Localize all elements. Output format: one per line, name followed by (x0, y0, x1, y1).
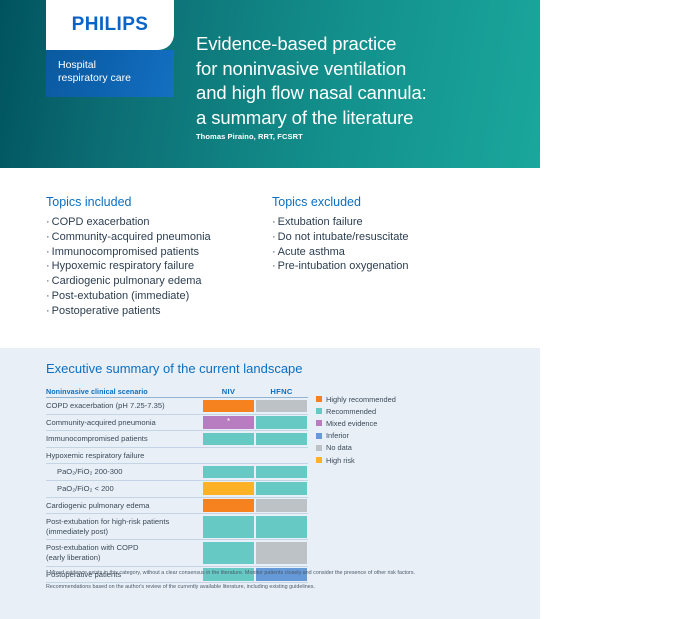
legend: Highly recommendedRecommendedMixed evide… (316, 393, 466, 466)
topic-included-item: Cardiogenic pulmonary edema (46, 274, 256, 289)
row-label-line1: PaO₂/FiO₂ 200-300 (57, 467, 198, 477)
legend-item-inferior: Inferior (316, 430, 466, 442)
legend-swatch-icon (316, 433, 322, 439)
table-row: COPD exacerbation (pH 7.25-7.35) (46, 398, 308, 415)
table-row: Cardiogenic pulmonary edema (46, 498, 308, 515)
row-label-line1: Immunocompromised patients (46, 434, 198, 444)
rating-swatch-recommended (256, 482, 307, 495)
cell-niv (202, 498, 255, 514)
column-header-niv: NIV (202, 387, 255, 397)
legend-label: Inferior (326, 431, 349, 440)
table-row: Post-extubation with COPD(early liberati… (46, 540, 308, 566)
topics-included-heading: Topics included (46, 195, 256, 209)
row-label-line1: Hypoxemic respiratory failure (46, 451, 198, 461)
rating-swatch-recommended (256, 516, 307, 538)
row-label-line1: Post-extubation with COPD (46, 543, 198, 553)
logo-subtitle-line1: Hospital (58, 59, 174, 72)
row-label-line2: (early liberation) (46, 553, 198, 563)
legend-item-no_data: No data (316, 442, 466, 454)
column-header-scenario: Noninvasive clinical scenario (46, 387, 202, 397)
rating-swatch-recommended (203, 466, 254, 479)
rating-swatch-empty (256, 449, 307, 462)
cell-hfnc (255, 448, 308, 464)
rating-swatch-highly_recommended (203, 400, 254, 413)
rating-swatch-empty (203, 449, 254, 462)
row-label: Immunocompromised patients (46, 431, 202, 447)
philips-wordmark: PHILIPS (72, 14, 149, 36)
executive-summary-panel: Executive summary of the current landsca… (0, 348, 540, 619)
table-row: Community-acquired pneumonia* (46, 415, 308, 432)
legend-label: Highly recommended (326, 395, 396, 404)
row-label-line1: Cardiogenic pulmonary edema (46, 501, 198, 511)
row-label: Post-extubation for high-risk patients(i… (46, 514, 202, 539)
cell-hfnc (255, 431, 308, 447)
table-row: PaO₂/FiO₂ 200-300 (46, 464, 308, 481)
topic-included-item: Hypoxemic respiratory failure (46, 259, 256, 274)
title-line-2: for noninvasive ventilation (196, 57, 526, 82)
cell-niv (202, 398, 255, 414)
poster-page: PHILIPS Hospital respiratory care Eviden… (0, 0, 698, 619)
philips-logo-plate: PHILIPS (46, 0, 174, 50)
table-row: Immunocompromised patients (46, 431, 308, 448)
table-body: COPD exacerbation (pH 7.25-7.35)Communit… (46, 398, 308, 583)
recommendation-table: Noninvasive clinical scenario NIV HFNC C… (46, 384, 308, 583)
legend-item-recommended: Recommended (316, 405, 466, 417)
legend-item-mixed_evidence: Mixed evidence (316, 417, 466, 429)
legend-label: High risk (326, 456, 355, 465)
topic-excluded-item: Pre-intubation oxygenation (272, 259, 502, 274)
row-label-line2: (immediately post) (46, 527, 198, 537)
cell-niv (202, 431, 255, 447)
cell-hfnc (255, 514, 308, 539)
title-line-3: and high flow nasal cannula: (196, 81, 526, 106)
row-label: PaO₂/FiO₂ < 200 (46, 481, 202, 497)
topics-excluded-column: Topics excluded Extubation failureDo not… (272, 195, 502, 274)
cell-niv: * (202, 415, 255, 431)
cell-hfnc (255, 481, 308, 497)
cell-niv (202, 514, 255, 539)
footnote-1: * Mixed evidence exists in this category… (46, 570, 516, 577)
table-row: Hypoxemic respiratory failure (46, 448, 308, 465)
row-label-line1: Post-extubation for high-risk patients (46, 517, 198, 527)
footnote-asterisk: * (227, 418, 230, 426)
cell-hfnc (255, 398, 308, 414)
footnotes: * Mixed evidence exists in this category… (46, 570, 516, 598)
topic-excluded-item: Do not intubate/resuscitate (272, 230, 502, 245)
legend-label: Recommended (326, 407, 376, 416)
row-label: Hypoxemic respiratory failure (46, 448, 202, 464)
row-label: Cardiogenic pulmonary edema (46, 498, 202, 514)
topic-excluded-item: Acute asthma (272, 245, 502, 260)
cell-hfnc (255, 415, 308, 431)
legend-label: Mixed evidence (326, 419, 377, 428)
legend-item-high_risk: High risk (316, 454, 466, 466)
row-label: Post-extubation with COPD(early liberati… (46, 540, 202, 565)
topics-excluded-list: Extubation failureDo not intubate/resusc… (272, 215, 502, 274)
cell-niv (202, 464, 255, 480)
author-byline: Thomas Piraino, RRT, FCSRT (196, 132, 303, 141)
cell-hfnc (255, 540, 308, 565)
legend-swatch-icon (316, 457, 322, 463)
cell-hfnc (255, 498, 308, 514)
cell-niv (202, 481, 255, 497)
executive-summary-title: Executive summary of the current landsca… (46, 361, 303, 376)
row-label-line1: Community-acquired pneumonia (46, 418, 198, 428)
rating-swatch-highly_recommended (203, 499, 254, 512)
table-row: Post-extubation for high-risk patients(i… (46, 514, 308, 540)
logo-subtitle-line2: respiratory care (58, 72, 174, 85)
row-label: COPD exacerbation (pH 7.25-7.35) (46, 398, 202, 414)
rating-swatch-high_risk (203, 482, 254, 495)
legend-item-highly_recommended: Highly recommended (316, 393, 466, 405)
row-label: Community-acquired pneumonia (46, 415, 202, 431)
topic-excluded-item: Extubation failure (272, 215, 502, 230)
column-header-hfnc: HFNC (255, 387, 308, 397)
cell-hfnc (255, 464, 308, 480)
legend-swatch-icon (316, 396, 322, 402)
rating-swatch-recommended (203, 542, 254, 564)
hero-banner: PHILIPS Hospital respiratory care Eviden… (0, 0, 540, 168)
rating-swatch-recommended (203, 433, 254, 446)
table-header-row: Noninvasive clinical scenario NIV HFNC (46, 384, 308, 398)
topic-included-item: Immunocompromised patients (46, 245, 256, 260)
legend-swatch-icon (316, 445, 322, 451)
title-line-4: a summary of the literature (196, 106, 526, 131)
topic-included-item: Post-extubation (immediate) (46, 289, 256, 304)
rating-swatch-no_data (256, 499, 307, 512)
rating-swatch-no_data (256, 400, 307, 413)
rating-swatch-recommended (256, 433, 307, 446)
legend-swatch-icon (316, 420, 322, 426)
cell-niv (202, 448, 255, 464)
logo-subtitle-plate: Hospital respiratory care (46, 50, 174, 97)
legend-label: No data (326, 443, 352, 452)
topic-included-item: Postoperative patients (46, 304, 256, 319)
legend-swatch-icon (316, 408, 322, 414)
rating-swatch-mixed_evidence: * (203, 416, 254, 429)
topic-included-item: COPD exacerbation (46, 215, 256, 230)
topics-included-column: Topics included COPD exacerbationCommuni… (46, 195, 256, 319)
footnote-2: Recommendations based on the author's re… (46, 584, 516, 591)
topics-excluded-heading: Topics excluded (272, 195, 502, 209)
topics-section: Topics included COPD exacerbationCommuni… (0, 168, 540, 348)
topic-included-item: Community-acquired pneumonia (46, 230, 256, 245)
rating-swatch-no_data (256, 542, 307, 564)
rating-swatch-recommended (256, 416, 307, 429)
rating-swatch-recommended (203, 516, 254, 538)
rating-swatch-recommended (256, 466, 307, 479)
page-title: Evidence-based practice for noninvasive … (196, 32, 526, 130)
title-line-1: Evidence-based practice (196, 32, 526, 57)
philips-logo-block: PHILIPS Hospital respiratory care (46, 0, 174, 97)
row-label-line1: COPD exacerbation (pH 7.25-7.35) (46, 401, 198, 411)
row-label-line1: PaO₂/FiO₂ < 200 (57, 484, 198, 494)
table-row: PaO₂/FiO₂ < 200 (46, 481, 308, 498)
cell-niv (202, 540, 255, 565)
topics-included-list: COPD exacerbationCommunity-acquired pneu… (46, 215, 256, 319)
row-label: PaO₂/FiO₂ 200-300 (46, 464, 202, 480)
